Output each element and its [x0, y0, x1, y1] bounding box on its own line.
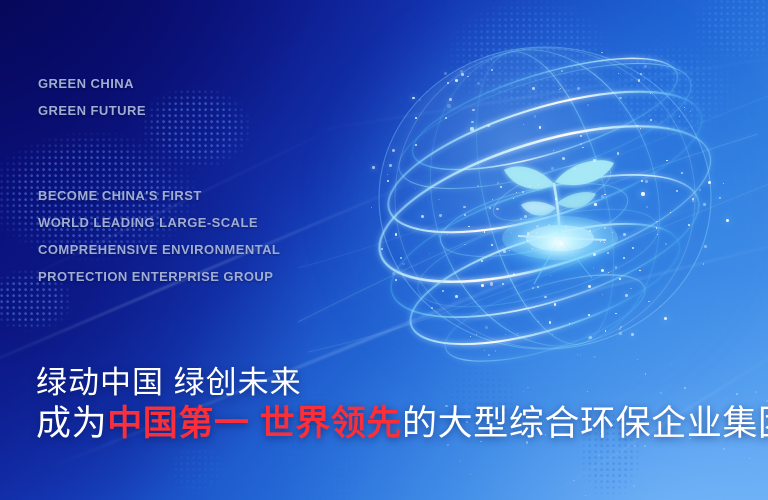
mission-line: WORLD LEADING LARGE-SCALE: [38, 209, 280, 236]
globe-core-glow: [504, 210, 614, 276]
sparkle-particle-icon: [598, 454, 600, 456]
headline-accent-world-leading: 世界领先: [260, 404, 402, 443]
wireframe-globe-graphic: [338, 22, 762, 362]
sparkle-particle-icon: [585, 495, 586, 496]
english-mission-block: BECOME CHINA'S FIRST WORLD LEADING LARGE…: [38, 182, 280, 290]
headline-line-1: 绿动中国 绿创未来: [36, 364, 768, 402]
sparkle-particle-icon: [749, 458, 750, 459]
tagline-line: GREEN FUTURE: [38, 97, 146, 124]
headline-line-2: 成为中国第一世界领先的大型综合环保企业集团: [36, 402, 768, 446]
globe-wireframe-icon: [338, 22, 762, 362]
sparkle-particle-icon: [723, 448, 725, 450]
headline-prefix: 成为: [36, 404, 107, 443]
hero-banner: GREEN CHINA GREEN FUTURE BECOME CHINA'S …: [0, 0, 768, 500]
mission-line: BECOME CHINA'S FIRST: [38, 182, 280, 209]
headline-suffix: 的大型综合环保企业集团: [402, 404, 768, 443]
mission-line: PROTECTION ENTERPRISE GROUP: [38, 263, 280, 290]
tagline-line: GREEN CHINA: [38, 70, 146, 97]
english-tagline-block: GREEN CHINA GREEN FUTURE: [38, 70, 146, 124]
sparkle-particle-icon: [470, 474, 471, 475]
sparkle-particle-icon: [633, 485, 635, 487]
chinese-headline-block: 绿动中国 绿创未来 成为中国第一世界领先的大型综合环保企业集团: [36, 364, 768, 446]
headline-accent-china-first: 中国第一: [107, 404, 249, 443]
sparkle-particle-icon: [573, 480, 575, 482]
sparkle-particle-icon: [459, 460, 461, 462]
mission-line: COMPREHENSIVE ENVIRONMENTAL: [38, 236, 280, 263]
